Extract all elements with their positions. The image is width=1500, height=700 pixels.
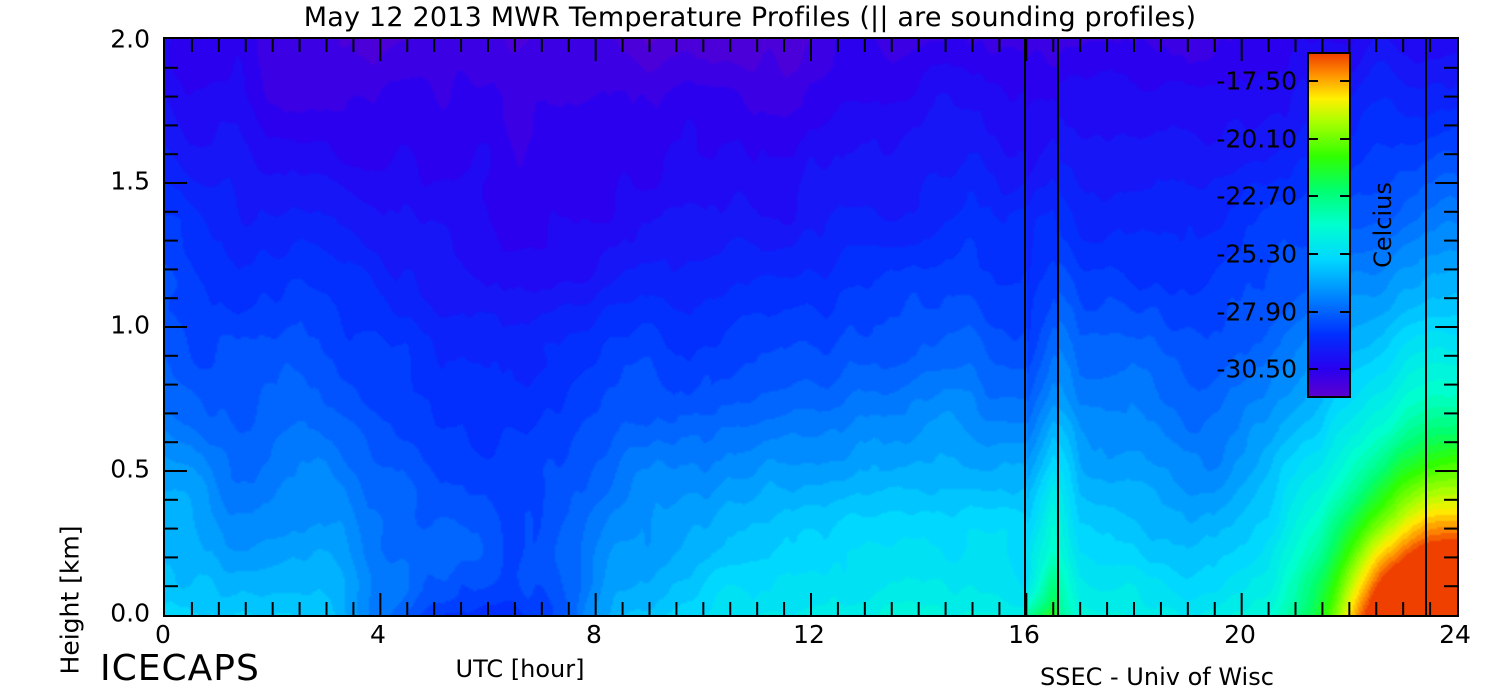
- y-tick-label: 0.5: [110, 455, 150, 484]
- colorbar-tick-mark: [1309, 253, 1318, 255]
- y-axis-tick-labels: 0.0 0.5 1.0 1.5 2.0: [0, 0, 150, 700]
- plot-canvas: May 12 2013 MWR Temperature Profiles (||…: [0, 0, 1500, 700]
- y-tick-label: 1.5: [110, 167, 150, 196]
- colorbar-tick-mark: [1309, 195, 1318, 197]
- sounding-line: [1057, 39, 1059, 615]
- colorbar-tick-mark: [1340, 368, 1349, 370]
- x-tick-label: 24: [1439, 620, 1471, 649]
- sounding-line: [1425, 39, 1427, 615]
- x-tick-label: 20: [1224, 620, 1256, 649]
- colorbar-tick-label: -17.50: [1216, 66, 1297, 95]
- y-tick-label: 1.0: [110, 311, 150, 340]
- colorbar-tick-label: -27.90: [1216, 297, 1297, 326]
- colorbar: [1307, 52, 1351, 398]
- colorbar-tick-label: -30.50: [1216, 355, 1297, 384]
- colorbar-tick-mark: [1309, 80, 1318, 82]
- y-tick-label: 2.0: [110, 25, 150, 54]
- colorbar-tick-label: -20.10: [1216, 124, 1297, 153]
- colorbar-unit-label: Celcius: [1369, 182, 1397, 268]
- page-title: May 12 2013 MWR Temperature Profiles (||…: [0, 2, 1500, 33]
- sounding-line: [1024, 39, 1026, 615]
- colorbar-tick-mark: [1309, 138, 1318, 140]
- x-tick-label: 0: [155, 620, 171, 649]
- x-tick-label: 12: [793, 620, 825, 649]
- colorbar-tick-mark: [1340, 311, 1349, 313]
- x-tick-label: 4: [370, 620, 386, 649]
- colorbar-gradient: [1309, 54, 1349, 396]
- y-tick-label: 0.0: [110, 599, 150, 628]
- colorbar-tick-mark: [1309, 368, 1318, 370]
- colorbar-tick-label: -25.30: [1216, 239, 1297, 268]
- colorbar-tick-mark: [1340, 253, 1349, 255]
- colorbar-tick-mark: [1340, 138, 1349, 140]
- colorbar-tick-label: -22.70: [1216, 182, 1297, 211]
- colorbar-tick-mark: [1309, 311, 1318, 313]
- colorbar-tick-mark: [1340, 80, 1349, 82]
- colorbar-tick-mark: [1340, 195, 1349, 197]
- x-tick-label: 16: [1008, 620, 1040, 649]
- institution-credit-label: SSEC - Univ of Wisc: [1040, 663, 1274, 691]
- x-tick-label: 8: [586, 620, 602, 649]
- project-brand-label: ICECAPS: [100, 648, 260, 689]
